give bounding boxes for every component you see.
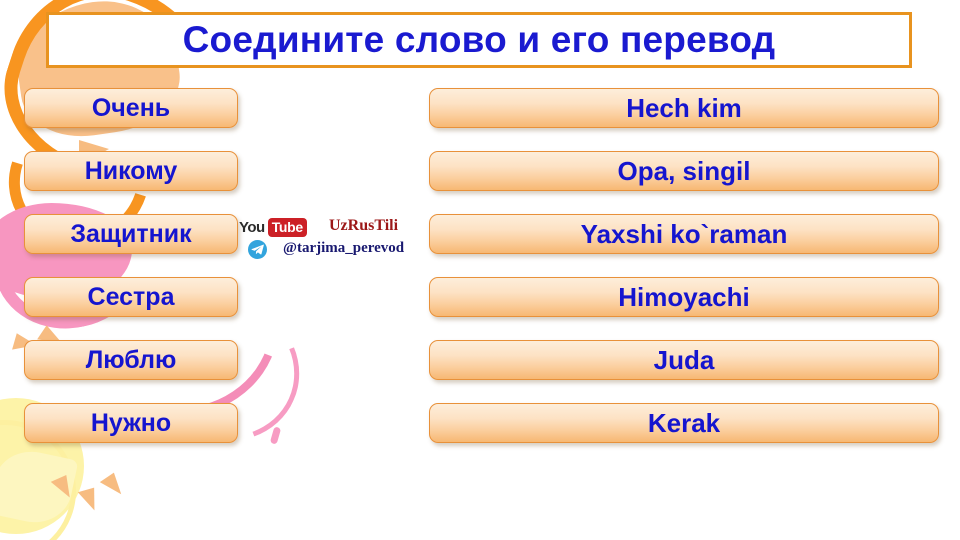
word-card-left-1[interactable]: Очень [24, 88, 238, 128]
youtube-icon: You Tube [239, 218, 307, 237]
word-card-label: Никому [85, 159, 178, 184]
slide-canvas: Соедините слово и его перевод Очень Нико… [0, 0, 960, 540]
word-card-right-6[interactable]: Kerak [429, 403, 939, 443]
watermark-block: You Tube UzRusTili @tarjima_perevod [239, 218, 419, 264]
word-card-label: Yaxshi ko`raman [581, 221, 788, 247]
pink-ribbon-tip-shape [270, 426, 281, 444]
page-title: Соедините слово и его перевод [183, 19, 776, 61]
word-card-label: Очень [92, 96, 170, 121]
word-card-label: Сестра [88, 285, 175, 310]
word-card-right-2[interactable]: Opa, singil [429, 151, 939, 191]
youtube-you-text: You [239, 219, 265, 236]
orange-ray-shape [78, 488, 100, 514]
word-card-label: Opa, singil [618, 158, 751, 184]
telegram-icon [248, 240, 267, 259]
word-card-left-5[interactable]: Люблю [24, 340, 238, 380]
word-card-label: Люблю [86, 348, 177, 373]
word-card-label: Hech kim [626, 95, 742, 121]
word-card-right-3[interactable]: Yaxshi ko`raman [429, 214, 939, 254]
word-card-label: Juda [654, 347, 715, 373]
word-card-right-5[interactable]: Juda [429, 340, 939, 380]
left-word-column: Очень Никому Защитник Сестра Люблю Нужно [24, 88, 238, 466]
word-card-label: Нужно [91, 411, 171, 436]
word-card-left-3[interactable]: Защитник [24, 214, 238, 254]
word-card-left-4[interactable]: Сестра [24, 277, 238, 317]
word-card-left-6[interactable]: Нужно [24, 403, 238, 443]
word-card-right-4[interactable]: Himoyachi [429, 277, 939, 317]
youtube-tube-text: Tube [268, 218, 307, 237]
channel-name-label: UzRusTili [329, 217, 398, 235]
word-card-label: Защитник [70, 222, 191, 247]
word-card-label: Kerak [648, 410, 720, 436]
word-card-left-2[interactable]: Никому [24, 151, 238, 191]
right-translation-column: Hech kim Opa, singil Yaxshi ko`raman Him… [429, 88, 939, 466]
orange-ray-shape [100, 473, 126, 501]
telegram-handle-label: @tarjima_perevod [283, 240, 404, 257]
title-box: Соедините слово и его перевод [46, 12, 912, 68]
word-card-label: Himoyachi [618, 284, 750, 310]
word-card-right-1[interactable]: Hech kim [429, 88, 939, 128]
orange-ray-shape [51, 475, 75, 502]
